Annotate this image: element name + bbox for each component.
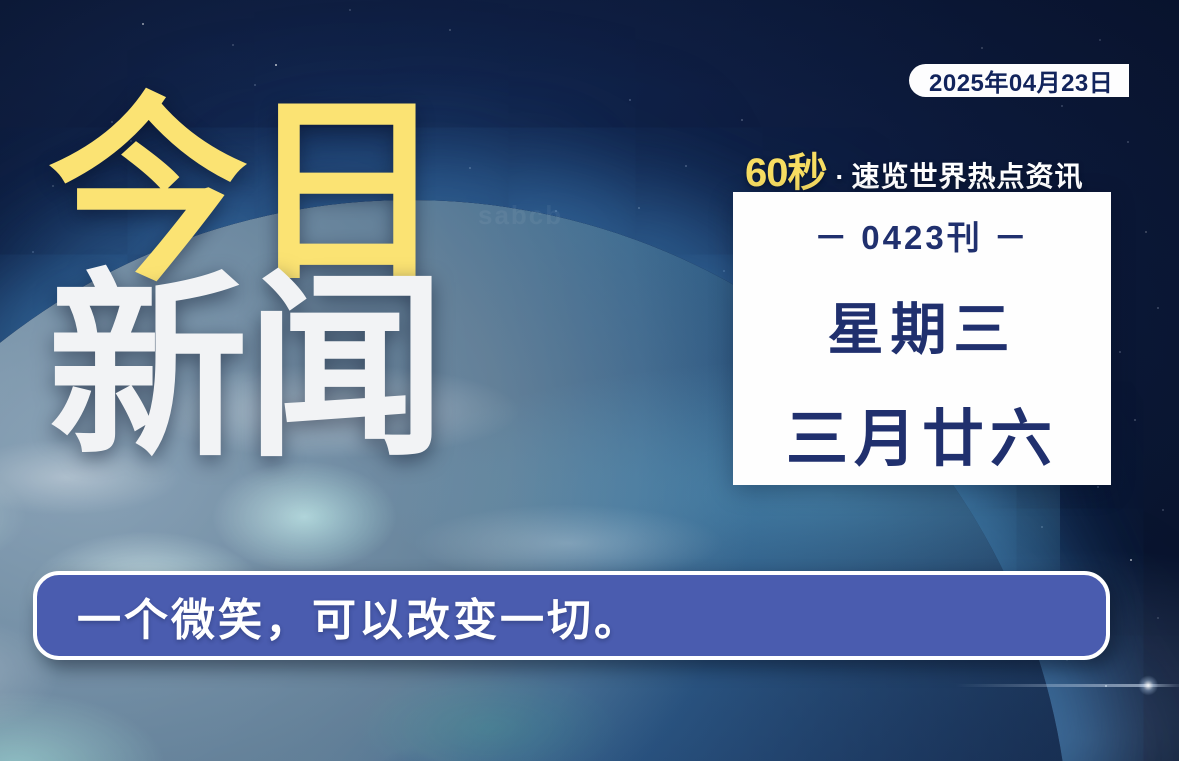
issue-dash-left-icon: －	[814, 211, 850, 259]
page-title-line-2: 新闻	[48, 272, 444, 466]
tagline-description: 速览世界热点资讯	[852, 155, 1084, 195]
watermark-text: sabcb	[478, 200, 563, 231]
date-badge: 2025年04月23日	[909, 64, 1129, 97]
tagline-seconds: 60秒	[745, 140, 827, 198]
page-title: 今日 新闻	[48, 96, 444, 466]
news-poster: sabcb 2025年04月23日 60秒 · 速览世界热点资讯 今日 新闻 －…	[0, 0, 1179, 761]
weekday-label: 星期三	[828, 285, 1017, 366]
issue-number: 0423刊	[861, 211, 982, 259]
issue-number-row: － 0423刊 －	[814, 211, 1029, 259]
issue-dash-right-icon: －	[994, 211, 1030, 259]
quote-banner: 一个微笑，可以改变一切。	[33, 571, 1110, 660]
tagline: 60秒 · 速览世界热点资讯	[745, 140, 1084, 198]
issue-info-card: － 0423刊 － 星期三 三月廿六	[733, 192, 1111, 485]
lunar-date-label: 三月廿六	[786, 388, 1058, 478]
quote-text: 一个微笑，可以改变一切。	[77, 584, 641, 648]
tagline-separator-icon: ·	[836, 162, 845, 193]
